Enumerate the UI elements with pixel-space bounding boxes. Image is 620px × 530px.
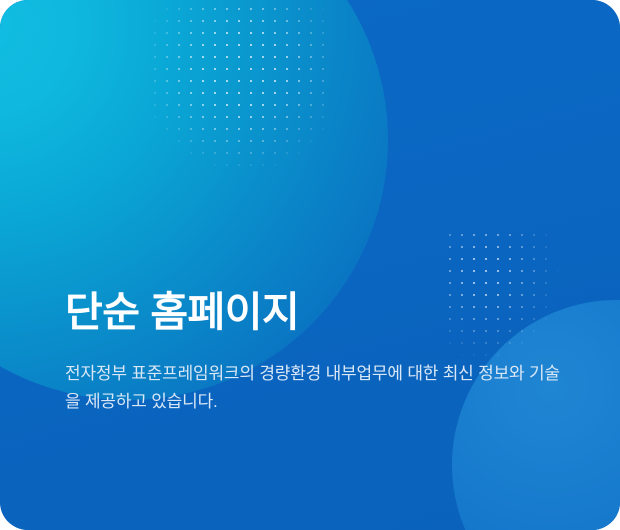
hero-banner-card: 단순 홈페이지 전자정부 표준프레임워크의 경량환경 내부업무에 대한 최신 정… [0, 0, 620, 530]
hero-text-block: 단순 홈페이지 전자정부 표준프레임워크의 경량환경 내부업무에 대한 최신 정… [65, 288, 585, 415]
dot-grid-pattern-top-icon [148, 2, 328, 172]
page-title: 단순 홈페이지 [65, 288, 585, 336]
hero-subtitle: 전자정부 표준프레임워크의 경량환경 내부업무에 대한 최신 정보와 기술을 제… [65, 336, 565, 415]
